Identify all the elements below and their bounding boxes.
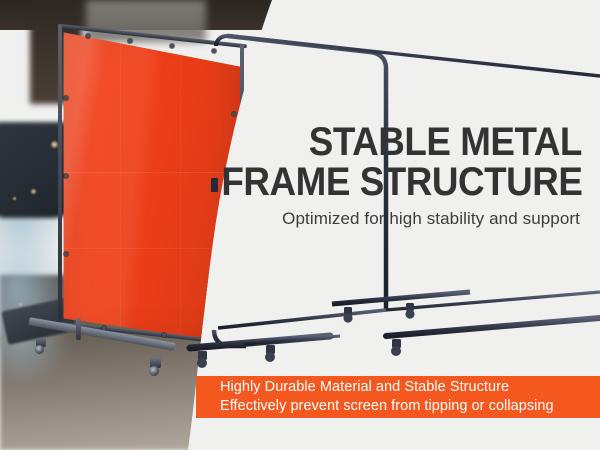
screen-grommet — [162, 333, 166, 337]
feature-banner-line-2: Effectively prevent screen from tipping … — [220, 397, 600, 416]
screen-grommet — [64, 96, 68, 100]
screen-crease — [120, 40, 121, 330]
screen-crease — [180, 46, 181, 336]
spark-particle — [30, 188, 37, 195]
screen-grommet — [232, 112, 236, 116]
screen-grommet — [86, 34, 90, 38]
product-marketing-banner: STABLE METAL FRAME STRUCTURE Optimized f… — [0, 0, 600, 450]
photo-caster-wheel — [35, 345, 44, 354]
screen-frame-left-post — [58, 24, 62, 320]
photo-upright-foot — [76, 318, 81, 340]
screen-crease — [64, 172, 242, 173]
spark-particle — [18, 302, 23, 307]
feature-banner-line-1: Highly Durable Material and Stable Struc… — [220, 378, 600, 397]
photo-caster-wheel — [149, 366, 159, 376]
spark-particle — [12, 196, 17, 201]
headline-line-2: FRAME STRUCTURE — [221, 164, 582, 202]
headline-line-1: STABLE METAL — [309, 124, 582, 162]
screen-grommet — [170, 44, 174, 48]
screen-grommet — [64, 252, 68, 256]
screen-grommet — [212, 49, 216, 53]
feature-banner: Highly Durable Material and Stable Struc… — [196, 376, 600, 418]
screen-grommet — [64, 174, 68, 178]
spark-particle — [44, 264, 48, 268]
subtitle: Optimized for high stability and support — [282, 209, 580, 229]
screen-grommet — [128, 39, 132, 43]
